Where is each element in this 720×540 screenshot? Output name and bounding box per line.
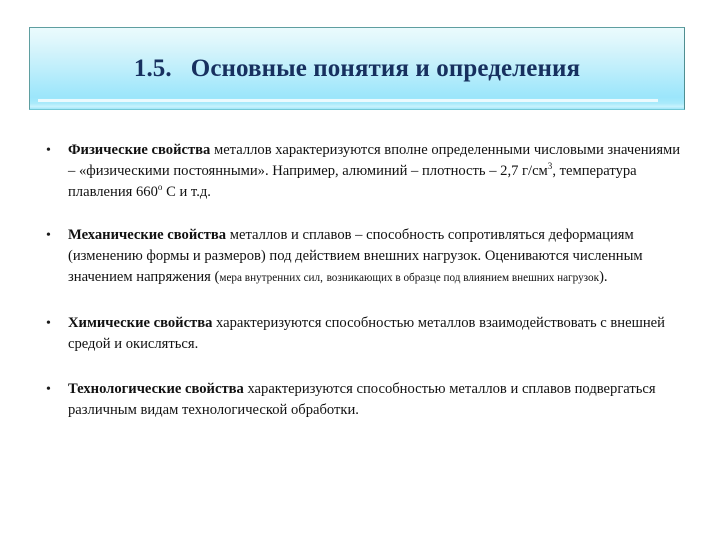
list-item: • Механические свойства металлов и сплав… [42,225,682,289]
list-item-text: Технологические свойства характеризуются… [68,379,682,421]
list-item: • Физические свойства металлов характери… [42,140,682,203]
list-item: • Химические свойства характеризуются сп… [42,313,682,355]
list-item-rest-line1: металлов и сплавов – способность сопроти… [226,227,545,243]
list-item-lead: Физические свойства [68,142,210,158]
list-item-lead: Механические свойства [68,227,226,243]
list-item-rest-line1: характеризуются способностью металлов и [244,381,519,397]
list-item-rest-line1: характеризуются способностью металлов [212,315,475,331]
list-item-lead: Химические свойства [68,315,212,331]
slide-canvas: 1.5. Основные понятия и определения • Фи… [0,0,720,540]
bullet-marker-icon: • [46,379,58,400]
list-item-line3-a: – плотность – 2,7 г/см [411,163,548,179]
list-item-small-note-1: мера внутренних сил, [219,272,323,284]
bullet-marker-icon: • [46,140,58,161]
list-item-lead: Технологические свойства [68,381,244,397]
page-title: 1.5. Основные понятия и определения [134,55,580,83]
list-item-line4-tail: ). [599,269,608,285]
list-item-line3-c: С и т.д. [162,184,211,200]
title-banner: 1.5. Основные понятия и определения [29,27,685,110]
bullet-list: • Физические свойства металлов характери… [42,140,682,421]
list-item: • Технологические свойства характеризуют… [42,379,682,421]
list-item-small-note-2: возникающих в образце под влиянием внешн… [327,272,599,284]
list-item-rest-line1: металлов характеризуются вполне определе… [210,142,530,158]
bullet-marker-icon: • [46,225,58,246]
list-item-text: Механические свойства металлов и сплавов… [68,225,682,289]
list-item-text: Физические свойства металлов характеризу… [68,140,682,203]
list-item-text: Химические свойства характеризуются спос… [68,313,682,355]
bullet-marker-icon: • [46,313,58,334]
